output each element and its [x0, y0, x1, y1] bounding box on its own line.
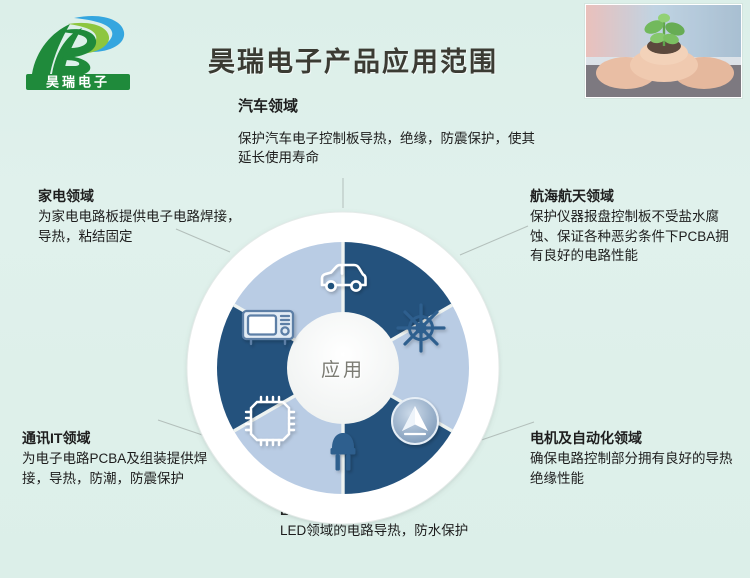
- haorui-electronics-logo: 昊瑞电子: [18, 12, 138, 92]
- callout-marine-body: 保护仪器报盘控制板不受盐水腐蚀、保证各种恶劣条件下PCBA拥有良好的电路性能: [530, 207, 735, 266]
- page-title: 昊瑞电子产品应用范围: [208, 40, 498, 79]
- logo-wordmark: 昊瑞电子: [46, 75, 110, 90]
- rocket-badge-icon: [392, 398, 438, 444]
- microwave-icon: [243, 311, 293, 344]
- ship-helm-icon: [398, 305, 444, 351]
- application-wheel-diagram: 应用: [183, 208, 503, 528]
- hands-holding-seedling-photo: [585, 4, 742, 98]
- callout-motor-body: 确保电路控制部分拥有良好的导热绝缘性能: [530, 449, 735, 488]
- callout-motor-title: 电机及自动化领域: [530, 428, 735, 449]
- callout-marine: 航海航天领域 保护仪器报盘控制板不受盐水腐蚀、保证各种恶劣条件下PCBA拥有良好…: [530, 186, 735, 266]
- poster-canvas: 昊瑞电子 昊瑞电子产品应用范围: [0, 0, 750, 578]
- callout-motor: 电机及自动化领域 确保电路控制部分拥有良好的导热绝缘性能: [530, 428, 735, 488]
- callout-automotive-body: 保护汽车电子控制板导热，绝缘，防震保护，使其延长使用寿命: [238, 129, 548, 168]
- callout-automotive: 汽车领域 保护汽车电子控制板导热，绝缘，防震保护，使其延长使用寿命: [238, 96, 548, 168]
- callout-automotive-title: 汽车领域: [238, 96, 548, 119]
- callout-appliance-title: 家电领域: [38, 186, 253, 207]
- callout-marine-title: 航海航天领域: [530, 186, 735, 207]
